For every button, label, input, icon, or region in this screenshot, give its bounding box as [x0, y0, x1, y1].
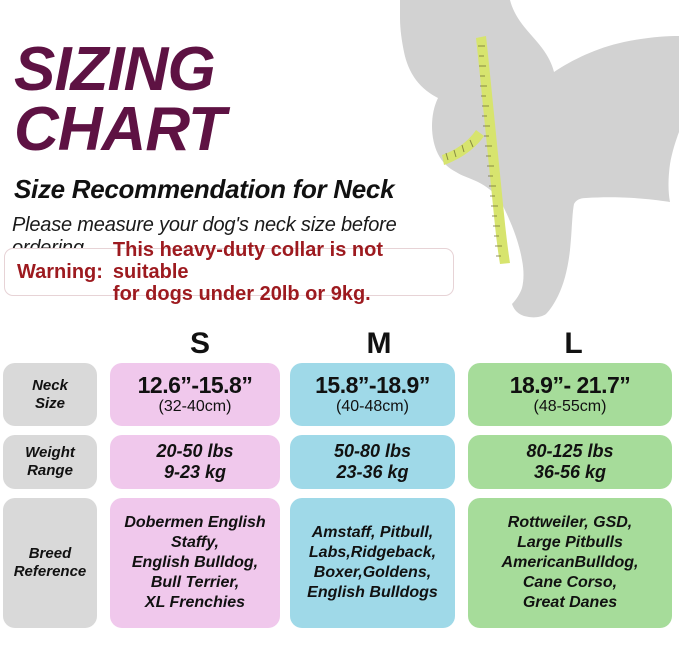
warning-label: Warning:: [5, 261, 113, 284]
cell-neck-size-l: 18.9”- 21.7” (48-55cm): [468, 363, 672, 426]
neck-size-m-inches: 15.8”-18.9”: [315, 373, 430, 398]
table-row-weight-range: Weight Range 20-50 lbs 9-23 kg 50-80 lbs…: [0, 435, 679, 489]
cell-breed-reference-s: Dobermen English Staffy, English Bulldog…: [110, 498, 280, 628]
header-block: SIZING CHART Size Recommendation for Nec…: [0, 0, 470, 260]
cell-neck-size-m: 15.8”-18.9” (40-48cm): [290, 363, 455, 426]
table-header-row: S M L: [0, 325, 679, 363]
cell-weight-range-s: 20-50 lbs 9-23 kg: [110, 435, 280, 489]
neck-size-s-inches: 12.6”-15.8”: [138, 373, 253, 398]
neck-size-m-cm: (40-48cm): [336, 398, 409, 416]
page-subtitle: Size Recommendation for Neck: [0, 174, 470, 205]
warning-message: This heavy-duty collar is not suitable f…: [113, 239, 453, 305]
cell-weight-range-m: 50-80 lbs 23-36 kg: [290, 435, 455, 489]
warning-box: Warning: This heavy-duty collar is not s…: [4, 248, 454, 296]
cell-breed-reference-m: Amstaff, Pitbull, Labs,Ridgeback, Boxer,…: [290, 498, 455, 628]
neck-size-l-inches: 18.9”- 21.7”: [510, 373, 631, 398]
cell-neck-size-s: 12.6”-15.8” (32-40cm): [110, 363, 280, 426]
page-title-line1: SIZING: [0, 0, 470, 102]
neck-size-l-cm: (48-55cm): [534, 398, 607, 416]
cell-breed-reference-l: Rottweiler, GSD, Large Pitbulls American…: [468, 498, 672, 628]
sizing-table: S M L Neck Size 12.6”-15.8” (32-40cm) 15…: [0, 325, 679, 637]
row-label-weight-range: Weight Range: [3, 435, 97, 489]
page-title-line2: CHART: [0, 98, 470, 162]
column-header-l: L: [468, 327, 679, 361]
column-header-m: M: [290, 327, 468, 361]
row-label-breed-reference: Breed Reference: [3, 498, 97, 628]
table-row-neck-size: Neck Size 12.6”-15.8” (32-40cm) 15.8”-18…: [0, 363, 679, 426]
row-label-neck-size: Neck Size: [3, 363, 97, 426]
column-header-s: S: [110, 327, 290, 361]
table-row-breed-reference: Breed Reference Dobermen English Staffy,…: [0, 498, 679, 628]
neck-size-s-cm: (32-40cm): [159, 398, 232, 416]
cell-weight-range-l: 80-125 lbs 36-56 kg: [468, 435, 672, 489]
